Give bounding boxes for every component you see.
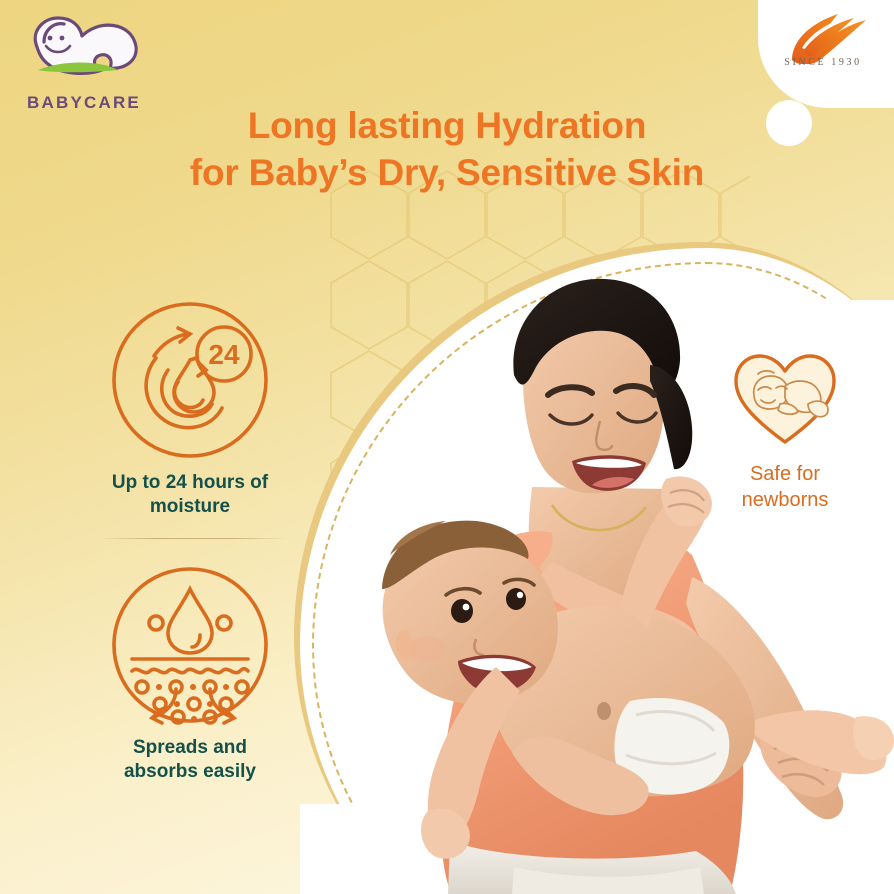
caption-line-1: Spreads and: [133, 737, 247, 758]
feature-caption: Spreads and absorbs easily: [70, 736, 310, 784]
page-title: Long lasting Hydration for Baby’s Dry, S…: [0, 103, 894, 196]
feature-hydration-24h: 24 Up to 24 hours of moisture: [70, 300, 310, 519]
caption-line-1: Up to 24 hours of: [112, 472, 268, 493]
caption-line-2: moisture: [150, 496, 230, 517]
promo-poster: BABYCARE SINCE 1930 Long lasting Hydrati…: [0, 0, 894, 894]
caption-line-2: absorbs easily: [124, 761, 256, 782]
sleeping-baby-in-heart-icon: [730, 348, 840, 448]
headline-line-2: for Baby’s Dry, Sensitive Skin: [0, 150, 894, 197]
feature-spreads-absorbs: Spreads and absorbs easily: [70, 565, 310, 784]
headline-line-1: Long lasting Hydration: [248, 105, 646, 146]
since-text: SINCE 1930: [758, 57, 888, 68]
crawling-baby-logo: [14, 8, 154, 86]
hydration-24h-droplet-icon: 24: [110, 300, 270, 460]
caption-line-1: Safe for: [750, 463, 820, 485]
orange-flame-wing-logo: [776, 8, 876, 64]
caption-line-2: newborns: [742, 489, 829, 511]
since-badge: SINCE 1930: [758, 0, 894, 108]
feature-caption: Up to 24 hours of moisture: [70, 471, 310, 519]
badge-24-label: 24: [208, 339, 240, 370]
feature-safe-for-newborns: Safe for newborns: [690, 348, 880, 513]
feature-caption: Safe for newborns: [690, 461, 880, 513]
feature-divider: [98, 538, 288, 539]
brand-logo: BABYCARE: [14, 8, 154, 113]
absorbs-into-skin-icon: [110, 565, 270, 725]
